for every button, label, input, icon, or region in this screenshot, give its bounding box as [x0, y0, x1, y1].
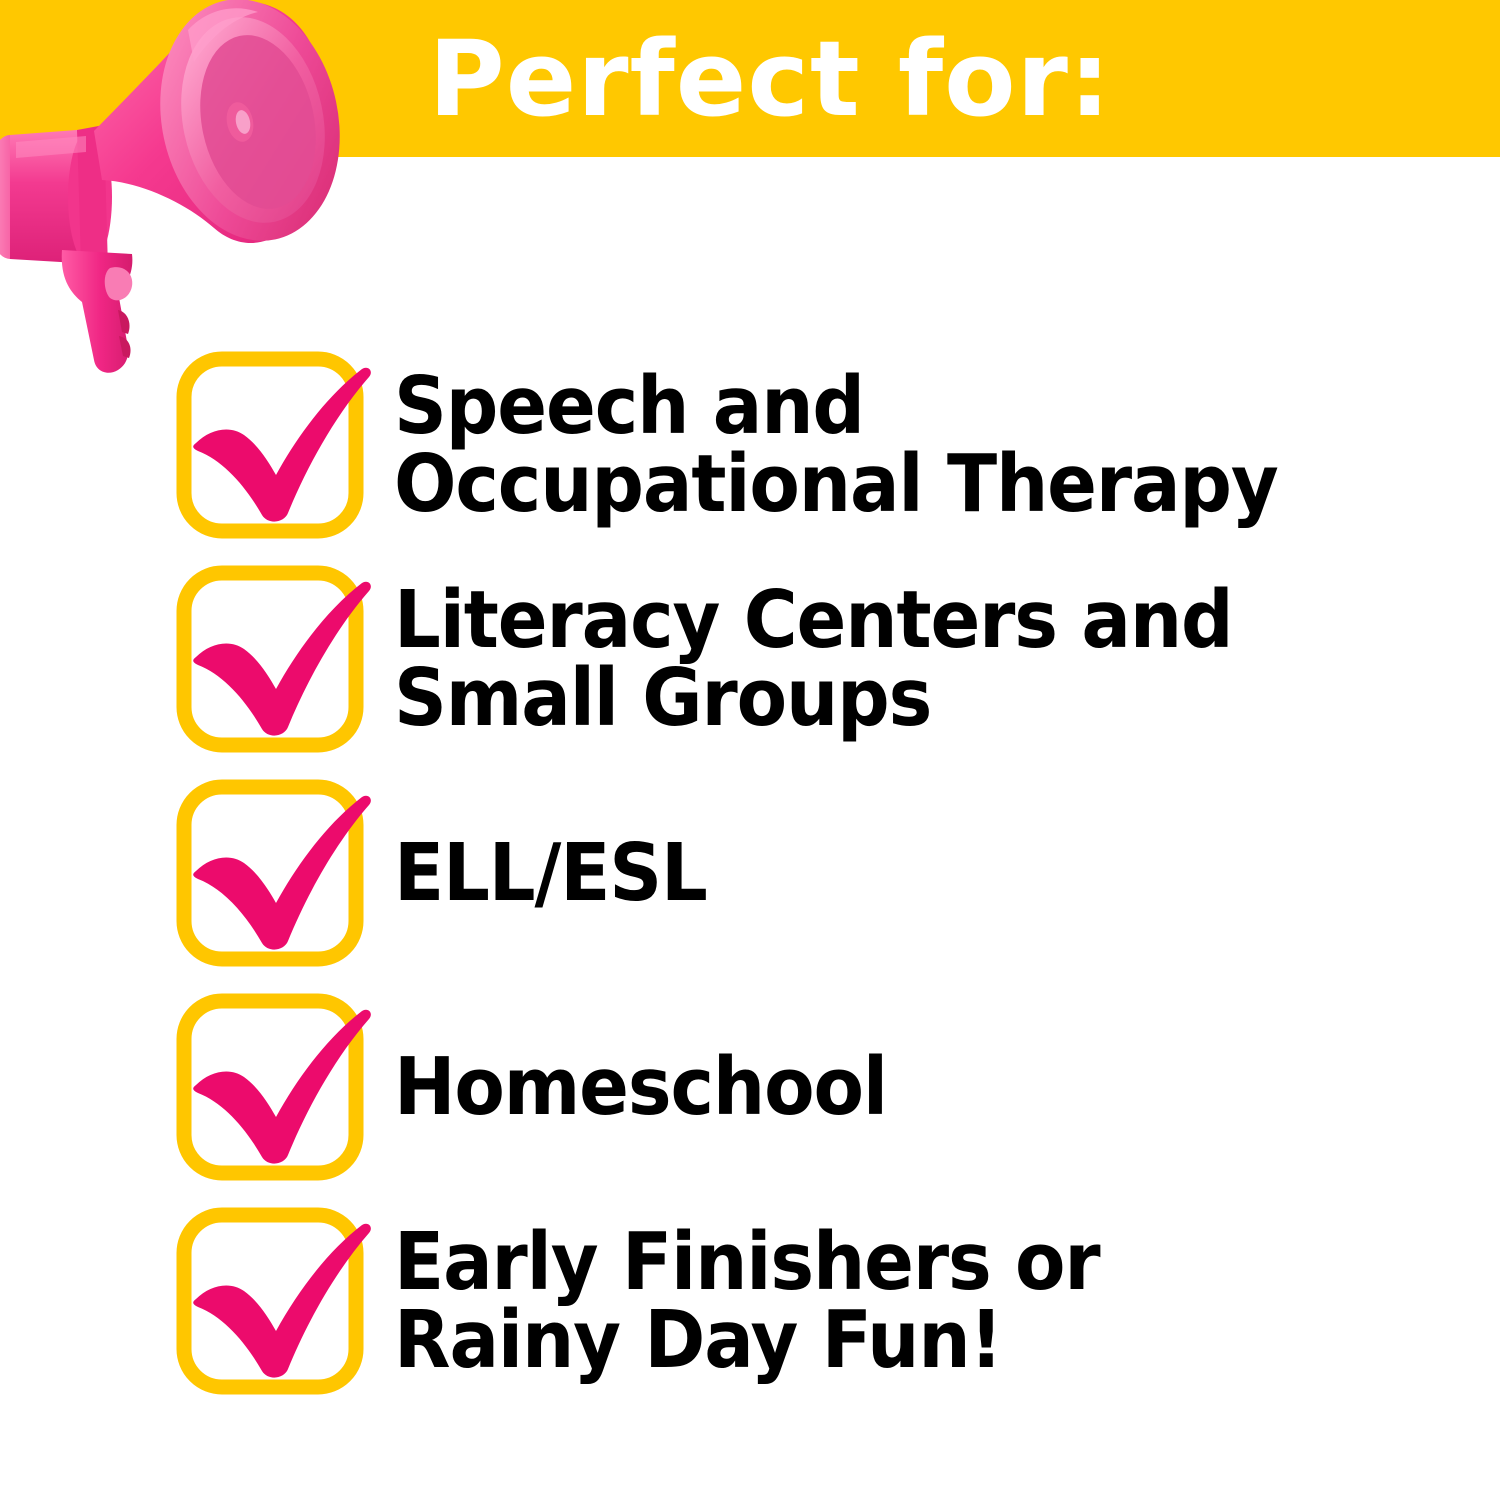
- list-item[interactable]: Early Finishers or Rainy Day Fun!: [176, 1208, 1476, 1394]
- checkmark-icon[interactable]: [176, 989, 372, 1185]
- list-item[interactable]: Speech and Occupational Therapy: [176, 352, 1476, 538]
- poster-canvas: Perfect for:: [0, 0, 1500, 1500]
- list-item-label: Speech and Occupational Therapy: [394, 367, 1278, 523]
- list-item-label: Literacy Centers and Small Groups: [394, 581, 1232, 737]
- checklist: Speech and Occupational Therapy Literacy…: [0, 0, 1500, 1500]
- checkmark-icon[interactable]: [176, 1203, 372, 1399]
- checkmark-icon[interactable]: [176, 775, 372, 971]
- list-item-label: Homeschool: [394, 1048, 887, 1126]
- checkmark-icon[interactable]: [176, 561, 372, 757]
- list-item[interactable]: Homeschool: [176, 994, 1476, 1180]
- list-item[interactable]: Literacy Centers and Small Groups: [176, 566, 1476, 752]
- list-item-label: ELL/ESL: [394, 834, 707, 912]
- checkmark-icon[interactable]: [176, 347, 372, 543]
- list-item[interactable]: ELL/ESL: [176, 780, 1476, 966]
- list-item-label: Early Finishers or Rainy Day Fun!: [394, 1223, 1100, 1379]
